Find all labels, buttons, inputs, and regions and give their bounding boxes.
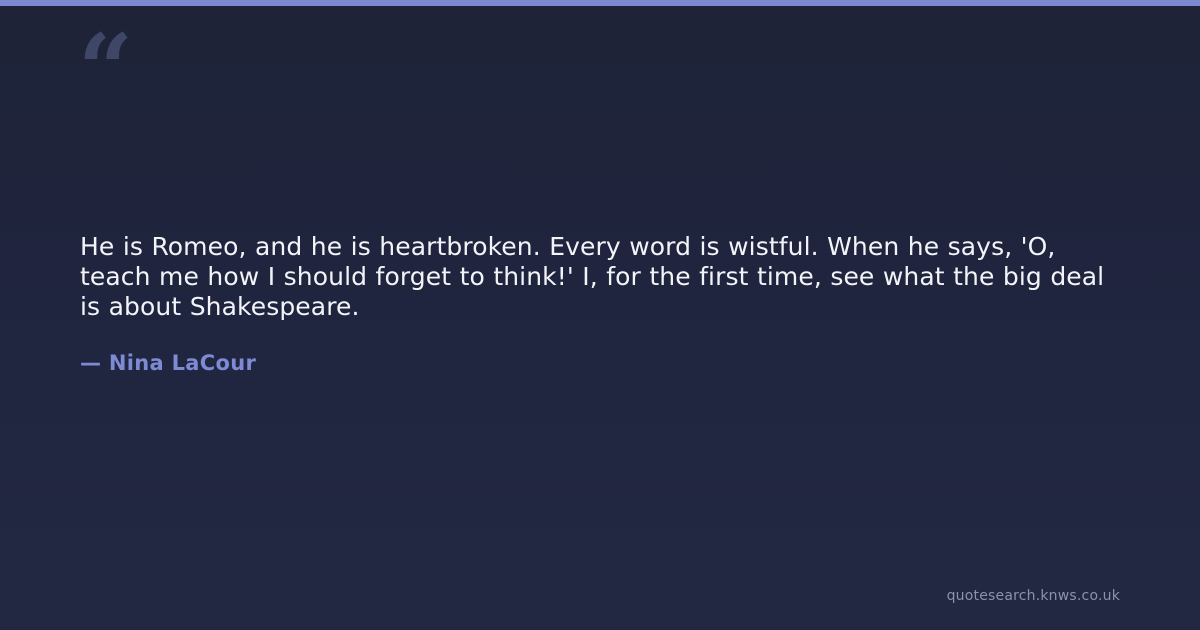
quote-text: He is Romeo, and he is heartbroken. Ever… bbox=[80, 232, 1120, 322]
quotation-mark-icon: “ bbox=[78, 22, 131, 118]
site-watermark: quotesearch.knws.co.uk bbox=[947, 588, 1120, 604]
quote-attribution: — Nina LaCour bbox=[80, 322, 1120, 375]
quote-card: “ He is Romeo, and he is heartbroken. Ev… bbox=[0, 0, 1200, 630]
top-accent-bar bbox=[0, 0, 1200, 6]
quote-content-block: He is Romeo, and he is heartbroken. Ever… bbox=[80, 232, 1120, 375]
